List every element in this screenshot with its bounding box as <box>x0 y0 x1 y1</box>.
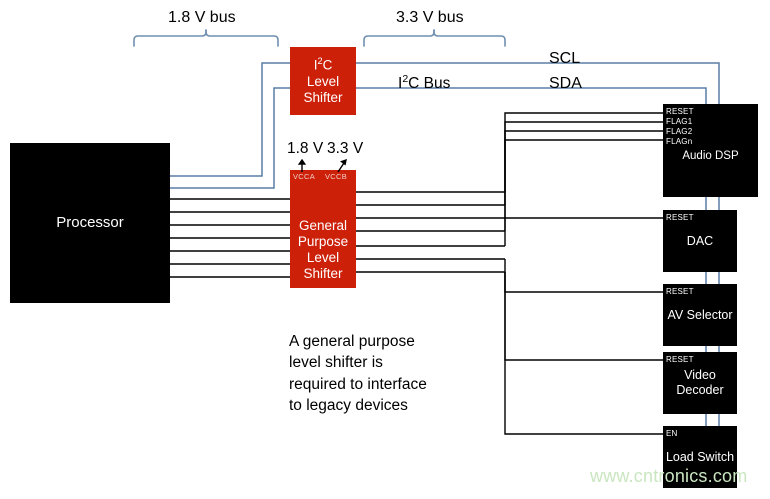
pin-audio-dsp-reset: RESET <box>666 108 694 116</box>
gp-shifter-line2: Purpose <box>298 234 348 250</box>
i2c-shifter-line3: Shifter <box>303 90 342 106</box>
gp-shifter-line1: General <box>299 218 347 234</box>
pin-video-decoder-reset: RESET <box>666 356 694 364</box>
block-dac-label: DAC <box>687 234 713 249</box>
i2c-bus-c: C Bus <box>408 75 450 92</box>
brace-3v3 <box>364 30 505 46</box>
i2c-shifter-line2: Level <box>307 74 339 90</box>
gpio-distribution-trunk <box>505 113 663 434</box>
block-gp-level-shifter[interactable]: General Purpose Level Shifter <box>290 170 356 288</box>
block-processor-label: Processor <box>56 214 124 232</box>
voltage-arrows <box>280 155 390 175</box>
block-video-decoder-label-line1: Video <box>684 368 716 383</box>
pin-dac-reset: RESET <box>666 214 694 222</box>
block-i2c-level-shifter[interactable]: I2C Level Shifter <box>290 47 356 115</box>
i2c-shifter-line1: I2C <box>314 56 333 73</box>
gpio-shifter-to-trunk <box>356 192 505 272</box>
pin-audio-dsp-flagn: FLAGn <box>666 138 692 146</box>
pin-load-switch-en: EN <box>666 430 678 438</box>
i2c-bus-left <box>166 63 291 188</box>
block-av-selector-label: AV Selector <box>667 308 732 323</box>
label-scl: SCL <box>549 51 580 67</box>
diagram-canvas: 1.8 V bus 3.3 V bus Processor I2C Level … <box>0 0 770 499</box>
watermark: www.cntronics.com <box>590 466 747 487</box>
annotation-note: A general purpose level shifter is requi… <box>289 331 499 417</box>
block-audio-dsp-label: Audio DSP <box>682 150 738 164</box>
pin-av-selector-reset: RESET <box>666 288 694 296</box>
brace-1v8 <box>134 30 278 46</box>
pin-audio-dsp-flag2: FLAG2 <box>666 128 692 136</box>
gp-shifter-line4: Shifter <box>303 266 342 282</box>
label-i2c-bus: I2C Bus <box>398 74 450 92</box>
pin-audio-dsp-flag1: FLAG1 <box>666 118 692 126</box>
label-1v8-bus: 1.8 V bus <box>168 10 236 26</box>
label-3v3-bus: 3.3 V bus <box>396 10 464 26</box>
gp-shifter-line3: Level <box>307 250 339 266</box>
block-video-decoder-label-line2: Decoder <box>676 383 723 398</box>
gpio-processor-to-shifter <box>166 199 290 277</box>
block-processor[interactable]: Processor <box>10 143 170 303</box>
block-load-switch-label: Load Switch <box>666 450 734 465</box>
i2c-shifter-c: C <box>323 58 333 73</box>
label-sda: SDA <box>549 76 582 92</box>
